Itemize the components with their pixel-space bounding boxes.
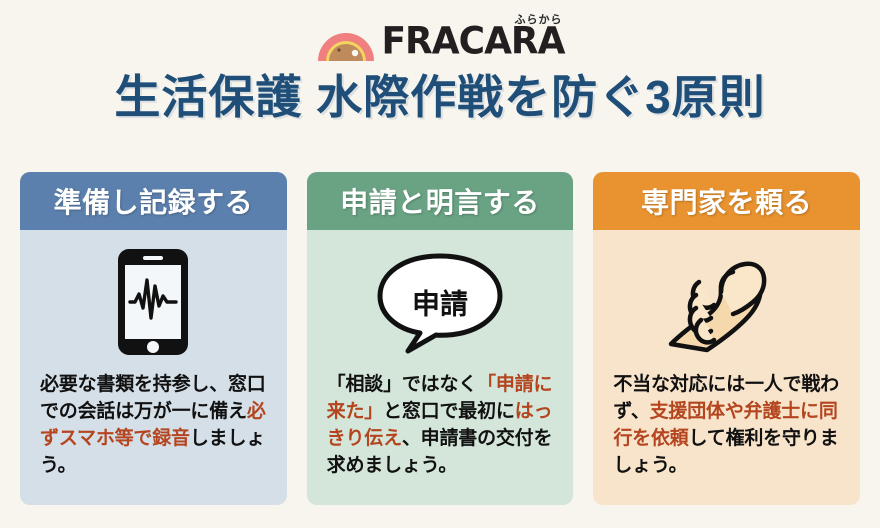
brand-wordmark-wrap: ふらから FRACARA xyxy=(381,18,564,60)
card-3-body: 不当な対応には一人で戦わず、支援団体や弁護士に同行を依頼して権利を守りましょう。 xyxy=(593,230,860,505)
card-1-text: 必要な書類を持参し、窓口での会話は万が一に備え必ずスマホ等で録音しましょう。 xyxy=(20,366,287,480)
card-1-text-part-0: 必要な書類を持参し、窓口での会話は万が一に備え xyxy=(40,374,266,422)
card-2-body: 申請 「相談」ではなく「申請に来た」と窓口で最初にはっきり伝え、申請書の交付を求… xyxy=(307,230,574,505)
rainbow-dome-logo-icon xyxy=(315,15,377,63)
card-3-icon-area xyxy=(593,238,860,366)
card-2-text-part-0: 「相談」ではなく xyxy=(327,374,477,395)
page-title: 生活保護 水際作戦を防ぐ3原則 xyxy=(0,74,880,120)
card-1-body: 必要な書類を持参し、窓口での会話は万が一に備え必ずスマホ等で録音しましょう。 xyxy=(20,230,287,505)
card-1-header: 準備し記録する xyxy=(20,172,287,230)
card-prepare-and-record: 準備し記録する 必要な書類を持参し、窓口での会話は万が一に備え必ずスマホ等で録音… xyxy=(20,172,287,505)
card-3-text: 不当な対応には一人で戦わず、支援団体や弁護士に同行を依頼して権利を守りましょう。 xyxy=(593,366,860,480)
handshake-icon xyxy=(663,248,791,356)
card-1-icon-area xyxy=(20,238,287,366)
smartphone-recording-icon xyxy=(114,246,192,358)
card-2-header: 申請と明言する xyxy=(307,172,574,230)
principles-card-row: 準備し記録する 必要な書類を持参し、窓口での会話は万が一に備え必ずスマホ等で録音… xyxy=(20,172,860,505)
brand-logo-bar: ふらから FRACARA xyxy=(0,0,880,70)
card-2-icon-area: 申請 xyxy=(307,238,574,366)
card-2-text: 「相談」ではなく「申請に来た」と窓口で最初にはっきり伝え、申請書の交付を求めまし… xyxy=(307,366,574,480)
speech-bubble-label: 申請 xyxy=(412,287,468,319)
card-3-header: 専門家を頼る xyxy=(593,172,860,230)
speech-bubble-icon: 申請 xyxy=(370,248,510,356)
brand-wordmark: FRACARA xyxy=(381,17,564,61)
card-2-text-part-2: と窓口で最初に xyxy=(383,401,515,422)
card-rely-on-experts: 専門家を頼る 不当な対応には一人で戦わず、支援団体や弁護士に同行を依頼 xyxy=(593,172,860,505)
card-declare-application: 申請と明言する 申請 「相談」ではなく「申請に来た」と窓口で最初にはっきり伝え、… xyxy=(307,172,574,505)
